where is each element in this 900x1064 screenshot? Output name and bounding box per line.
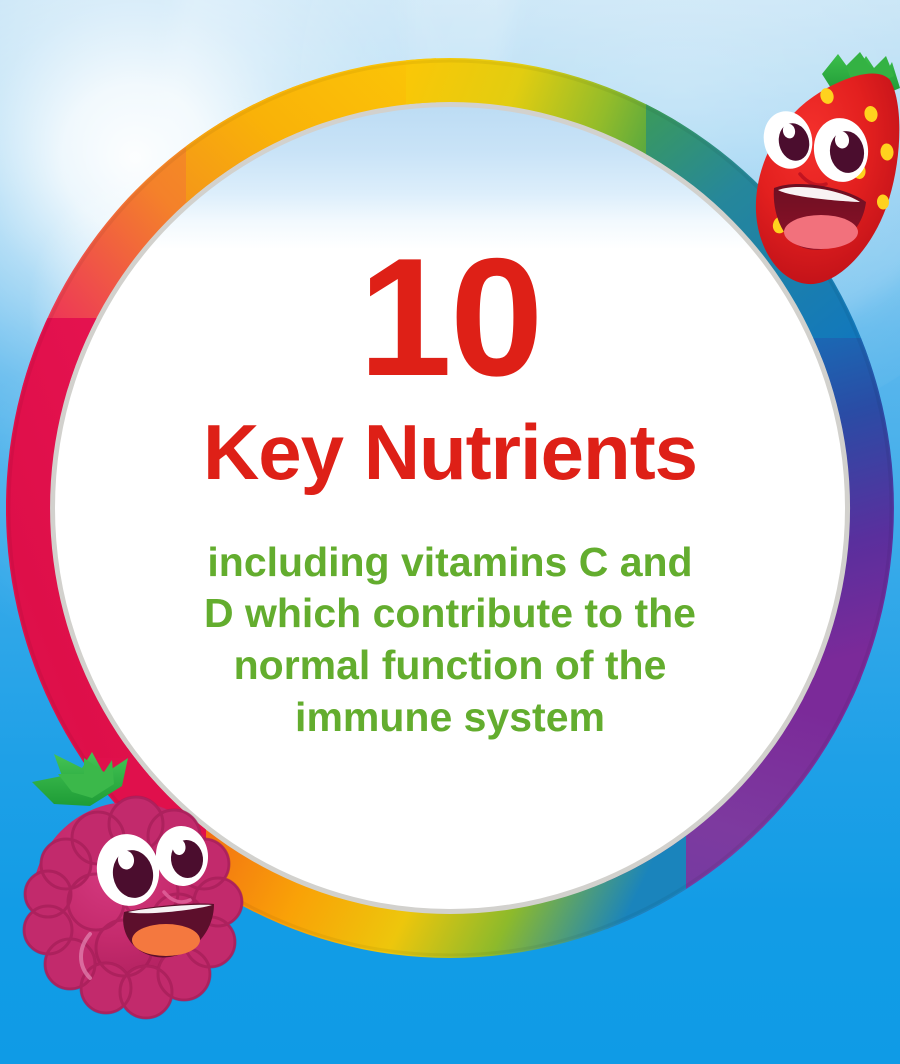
body-copy: including vitamins C and D which contrib… bbox=[145, 537, 755, 744]
raspberry-leaves bbox=[32, 752, 128, 806]
raspberry-character bbox=[18, 752, 248, 1014]
body-line: D which contribute to the bbox=[145, 588, 755, 640]
poster-canvas: 10 Key Nutrients including vitamins C an… bbox=[0, 0, 900, 1064]
headline-number: 10 bbox=[120, 240, 780, 395]
headline-subtitle: Key Nutrients bbox=[120, 413, 780, 491]
body-line: immune system bbox=[145, 692, 755, 744]
strawberry-body bbox=[756, 74, 899, 285]
strawberry-tongue bbox=[784, 215, 858, 249]
body-line: including vitamins C and bbox=[145, 537, 755, 589]
poster-content: 10 Key Nutrients including vitamins C an… bbox=[120, 240, 780, 743]
body-line: normal function of the bbox=[145, 640, 755, 692]
strawberry-character bbox=[726, 52, 900, 312]
raspberry-tongue bbox=[132, 924, 200, 956]
